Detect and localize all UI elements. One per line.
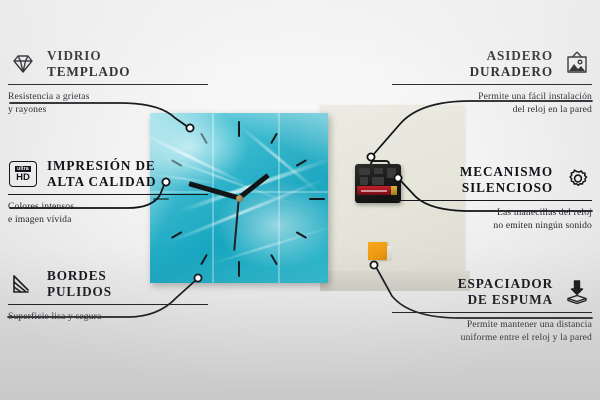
gear-icon xyxy=(562,166,592,194)
mechanism-detail xyxy=(360,177,368,185)
feature-bordes-pulidos: BORDES PULIDOS Superficie lisa y segura xyxy=(8,268,208,323)
clock-second-hand xyxy=(234,195,240,251)
feature-divider xyxy=(8,84,208,85)
feature-heading: ESPACIADOR DE ESPUMA xyxy=(392,276,592,309)
product-feature-infographic: VIDRIO TEMPLADO Resistencia a grietas y … xyxy=(0,0,600,400)
feature-divider xyxy=(392,200,592,201)
clock-tick xyxy=(200,254,208,265)
feature-title: IMPRESIÓN DE ALTA CALIDAD xyxy=(47,158,156,191)
feature-title: ASIDERO DURADERO xyxy=(470,48,553,81)
feature-divider xyxy=(8,194,208,195)
feature-heading: ultra HD IMPRESIÓN DE ALTA CALIDAD xyxy=(8,158,208,191)
mechanism-detail xyxy=(359,168,370,175)
clock-tick xyxy=(270,254,278,265)
feature-heading: VIDRIO TEMPLADO xyxy=(8,48,208,81)
feature-title: ESPACIADOR DE ESPUMA xyxy=(458,276,553,309)
mechanism-detail xyxy=(372,177,384,185)
polished-edges-icon xyxy=(8,270,38,298)
feature-heading: ASIDERO DURADERO xyxy=(392,48,592,81)
feature-mecanismo-silencioso: MECANISMO SILENCIOSO Las manecillas del … xyxy=(392,164,592,233)
feature-vidrio-templado: VIDRIO TEMPLADO Resistencia a grietas y … xyxy=(8,48,208,117)
foam-spacer-backing xyxy=(387,246,392,261)
feature-divider xyxy=(392,84,592,85)
feature-subtitle: Superficie lisa y segura xyxy=(8,310,208,323)
mechanism-detail xyxy=(374,168,383,174)
feature-impresion-alta-calidad: ultra HD IMPRESIÓN DE ALTA CALIDAD Color… xyxy=(8,158,208,227)
feature-espaciador-de-espuma: ESPACIADOR DE ESPUMA Permite mantener un… xyxy=(392,276,592,345)
feature-divider xyxy=(8,304,208,305)
feature-heading: MECANISMO SILENCIOSO xyxy=(392,164,592,197)
clock-tick xyxy=(238,121,240,137)
clock-tick xyxy=(270,133,278,144)
feature-divider xyxy=(392,312,592,313)
clock-tick xyxy=(238,261,240,277)
ultra-hd-badge-icon: ultra HD xyxy=(8,160,38,188)
hd-badge-hd-label: HD xyxy=(16,173,30,183)
diamond-icon xyxy=(8,50,38,78)
clock-center-hub xyxy=(236,195,243,202)
feature-title: VIDRIO TEMPLADO xyxy=(47,48,130,81)
feature-title: BORDES PULIDOS xyxy=(47,268,112,301)
feature-title: MECANISMO SILENCIOSO xyxy=(460,164,553,197)
feature-subtitle: Permite mantener una distancia uniforme … xyxy=(392,318,592,344)
feature-subtitle: Permite una fácil instalación del reloj … xyxy=(392,90,592,116)
picture-frame-hanger-icon xyxy=(562,50,592,78)
clock-tick xyxy=(309,198,325,200)
arrow-down-onto-plate-icon xyxy=(562,278,592,306)
feature-asidero-duradero: ASIDERO DURADERO Permite una fácil insta… xyxy=(392,48,592,117)
feature-heading: BORDES PULIDOS xyxy=(8,268,208,301)
feature-subtitle: Resistencia a grietas y rayones xyxy=(8,90,208,116)
foam-spacer xyxy=(368,242,387,260)
battery-label-stripe xyxy=(361,190,387,193)
hd-badge: ultra HD xyxy=(9,161,37,187)
feature-subtitle: Las manecillas del reloj no emiten ningú… xyxy=(392,206,592,232)
feature-subtitle: Colores intensos e imagen vívida xyxy=(8,200,208,226)
